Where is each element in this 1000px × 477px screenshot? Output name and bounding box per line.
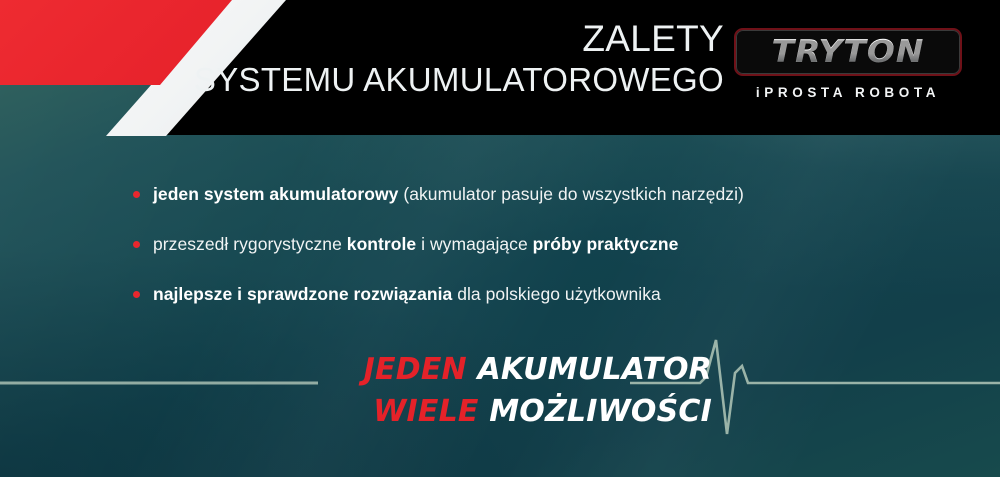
logo-plate: TRYTON	[734, 28, 962, 76]
header-banner: ZALETY SYSTEMU AKUMULATOROWEGO TRYTON iP…	[0, 0, 1000, 142]
slogan-line-1: JEDEN AKUMULATOR	[0, 352, 712, 388]
slogan-line-2-red: WIELE	[373, 394, 478, 429]
bullet-dot-icon	[133, 241, 140, 248]
bullet-3-bold: najlepsze i sprawdzone rozwiązania	[153, 284, 452, 304]
page-title: ZALETY SYSTEMU AKUMULATOROWEGO	[0, 19, 724, 98]
bullet-dot-icon	[133, 191, 140, 198]
bullet-dot-icon	[133, 291, 140, 298]
slogan-line-2-white: MOŻLIWOŚCI	[479, 394, 712, 429]
logo-wordmark: TRYTON	[772, 34, 925, 70]
bullet-text-2: przeszedł rygorystyczne kontrole i wymag…	[153, 232, 971, 256]
title-line-2: SYSTEMU AKUMULATOROWEGO	[0, 63, 724, 98]
bullet-2-bold1: kontrole	[347, 234, 416, 254]
benefits-list: jeden system akumulatorowy (akumulator p…	[131, 182, 971, 306]
bullet-2-part1: przeszedł rygorystyczne	[153, 234, 347, 254]
slogan: JEDEN AKUMULATOR WIELE MOŻLIWOŚCI	[0, 352, 712, 430]
bullet-text-3: najlepsze i sprawdzone rozwiązania dla p…	[153, 282, 971, 306]
bullet-1-bold: jeden system akumulatorowy	[153, 184, 398, 204]
bullet-2-bold2: próby praktyczne	[533, 234, 679, 254]
bullet-text-1: jeden system akumulatorowy (akumulator p…	[153, 182, 971, 206]
tryton-logo: TRYTON iPROSTA ROBOTA	[734, 28, 962, 100]
logo-tagline: iPROSTA ROBOTA	[734, 85, 962, 100]
bullet-1-rest: (akumulator pasuje do wszystkich narzędz…	[398, 184, 744, 204]
slogan-line-2: WIELE MOŻLIWOŚCI	[0, 394, 712, 430]
list-item: przeszedł rygorystyczne kontrole i wymag…	[131, 232, 971, 256]
list-item: najlepsze i sprawdzone rozwiązania dla p…	[131, 282, 971, 306]
title-line-1: ZALETY	[0, 19, 724, 58]
bullet-2-part2: i wymagające	[416, 234, 532, 254]
slogan-line-1-red: JEDEN	[364, 352, 467, 387]
slogan-line-1-white: AKUMULATOR	[467, 352, 712, 387]
slide-root: ZALETY SYSTEMU AKUMULATOROWEGO TRYTON iP…	[0, 0, 1000, 477]
bullet-3-rest: dla polskiego użytkownika	[452, 284, 661, 304]
list-item: jeden system akumulatorowy (akumulator p…	[131, 182, 971, 206]
